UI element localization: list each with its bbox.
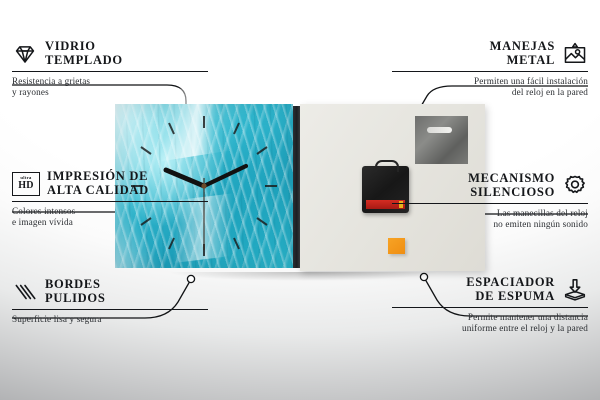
callout-desc-line2: del reloj en la pared	[392, 87, 588, 98]
callout-desc-line1: Permiten una fácil instalación	[392, 76, 588, 87]
callout-title-line2: TEMPLADO	[45, 54, 123, 68]
polished-edges-icon	[12, 279, 38, 305]
metal-hanger-plate	[415, 116, 468, 164]
callout-desc-line1: Superficie lisa y segura	[12, 314, 208, 325]
foam-spacer-pad	[388, 238, 405, 254]
callout-mecanismo-silencioso: MECANISMO SILENCIOSO Las manecillas del …	[392, 172, 588, 230]
clock-minute-hand	[204, 166, 246, 186]
callout-desc-line1: Colores intensos	[12, 206, 208, 217]
callout-desc-line1: Permite mantener una distancia	[392, 312, 588, 323]
callout-title-line1: MANEJAS	[490, 40, 555, 54]
clock-glass-edge	[293, 106, 300, 268]
callout-title-line1: VIDRIO	[45, 40, 123, 54]
callout-title-line2: ALTA CALIDAD	[47, 184, 149, 198]
callout-title-line1: ESPACIADOR	[466, 276, 555, 290]
infographic-canvas: VIDRIO TEMPLADO Resistencia a grietas y …	[0, 0, 600, 400]
callout-title-line2: DE ESPUMA	[466, 290, 555, 304]
callout-bordes-pulidos: BORDES PULIDOS Superficie lisa y segura	[12, 278, 208, 325]
callout-title-line2: PULIDOS	[45, 292, 105, 306]
callout-impresion-alta-calidad: ultra HD IMPRESIÓN DE ALTA CALIDAD Color…	[12, 170, 208, 228]
callout-divider	[12, 201, 208, 202]
callout-divider	[392, 203, 588, 204]
mechanism-hanging-loop-icon	[375, 160, 399, 172]
callout-divider	[12, 71, 208, 72]
callout-desc-line2: e imagen vívida	[12, 217, 208, 228]
callout-vidrio-templado: VIDRIO TEMPLADO Resistencia a grietas y …	[12, 40, 208, 98]
callout-desc-line2: no emiten ningún sonido	[392, 219, 588, 230]
callout-title-line1: MECANISMO	[468, 172, 555, 186]
callout-espaciador-espuma: ESPACIADOR DE ESPUMA Permite mantener un…	[392, 276, 588, 334]
hanger-slot	[427, 127, 452, 133]
callout-title-line1: BORDES	[45, 278, 105, 292]
callout-title-line2: SILENCIOSO	[468, 186, 555, 200]
callout-title-line2: METAL	[490, 54, 555, 68]
callout-divider	[12, 309, 208, 310]
callout-desc-line1: Las manecillas del reloj	[392, 208, 588, 219]
callout-desc-line2: y rayones	[12, 87, 208, 98]
diamond-icon	[12, 41, 38, 67]
callout-title-line1: IMPRESIÓN DE	[47, 170, 149, 184]
foam-spacer-icon	[562, 277, 588, 303]
picture-frame-icon	[562, 41, 588, 67]
ultra-hd-main-label: HD	[18, 181, 34, 191]
gear-icon	[562, 173, 588, 199]
callout-desc-line2: uniforme entre el reloj y la pared	[392, 323, 588, 334]
callout-divider	[392, 71, 588, 72]
ultra-hd-icon: ultra HD	[12, 172, 40, 196]
callout-manejas-metal: MANEJAS METAL Permiten una fácil instala…	[392, 40, 588, 98]
callout-desc-line1: Resistencia a grietas	[12, 76, 208, 87]
callout-divider	[392, 307, 588, 308]
